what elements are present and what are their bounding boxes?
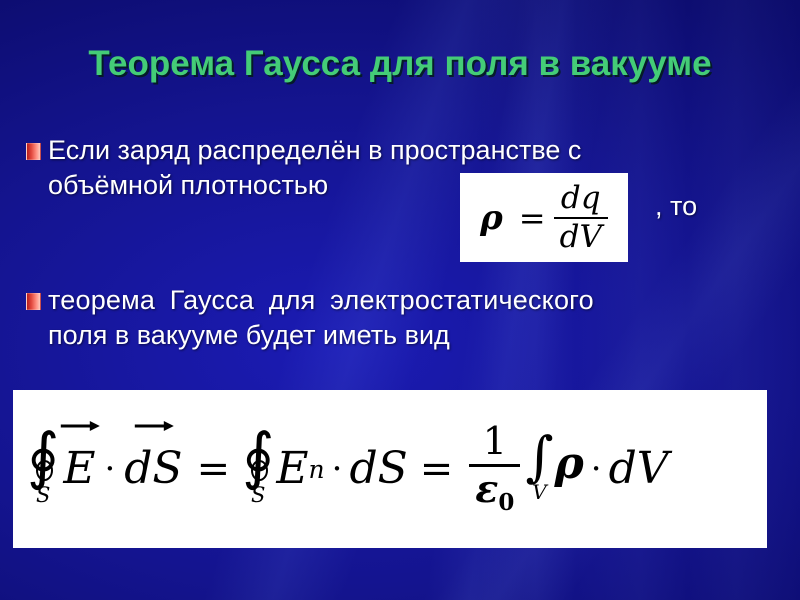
gauss-theorem-formula: ∮ S E · dS =	[13, 390, 767, 548]
one-over-epsilon-zero-fraction: 1 ε0	[469, 422, 520, 515]
field-e-1: E	[63, 443, 95, 494]
fraction-denominator-epsilon: ε0	[469, 469, 520, 515]
integral-symbol: ∫	[525, 434, 553, 480]
bullet-2-line-1: теорема Гаусса для электростатического	[48, 285, 594, 315]
dot-operator-1: ·	[104, 449, 115, 489]
slide-title: Теорема Гаусса для поля в вакууме	[0, 44, 800, 84]
integral-limit-v: V	[532, 480, 546, 504]
equals-sign-1: =	[197, 446, 231, 492]
bullet-square-icon	[26, 293, 41, 310]
bullet-1-line-1-row: Если заряд распределён в пространстве с	[26, 133, 778, 168]
differential-dv: dV	[609, 447, 669, 491]
density-formula-box: ρ = dq dV	[460, 173, 628, 262]
bullet-1-line-1: Если заряд распределён в пространстве с	[48, 135, 581, 165]
bullet-square-icon	[26, 143, 41, 160]
density-formula: ρ = dq dV	[480, 182, 608, 253]
dot-operator-3: ·	[591, 449, 602, 489]
differential-ds-1: dS	[124, 443, 182, 494]
bullet-2-line-2: поля в вакууме будет иметь вид	[48, 318, 778, 353]
fraction-denominator: dV	[554, 221, 608, 254]
field-e-subscript-n: n	[309, 455, 325, 484]
gauss-theorem-formula-box: ∮ S E · dS =	[13, 390, 767, 548]
epsilon-subscript-zero: 0	[498, 489, 514, 516]
fraction-numerator: dq	[555, 182, 607, 215]
rho-symbol: ρ	[480, 198, 503, 238]
equals-sign: =	[519, 199, 546, 237]
vector-arrow-icon	[134, 421, 174, 431]
ds-vector-term: dS	[124, 447, 182, 491]
dq-dv-fraction: dq dV	[554, 182, 608, 253]
then-label: , то	[655, 191, 697, 222]
charge-density-rho: ρ	[555, 438, 584, 489]
dot-operator-2: ·	[332, 449, 343, 489]
bullet-2-line-1-row: теорема Гаусса для электростатического	[26, 283, 778, 318]
closed-surface-integral-1: ∮ S	[27, 431, 59, 508]
epsilon-symbol: ε	[475, 466, 498, 511]
volume-integral: ∫ V	[525, 434, 553, 505]
bullet-item-2: теорема Гаусса для электростатического п…	[26, 283, 778, 352]
differential-ds-2: dS	[349, 447, 407, 491]
field-e-2: E	[276, 447, 308, 491]
fraction-numerator-one: 1	[477, 422, 513, 462]
presentation-slide: Теорема Гаусса для поля в вакууме Если з…	[0, 0, 800, 600]
e-vector-term: E	[63, 447, 95, 491]
closed-surface-integral-2: ∮ S	[242, 431, 274, 508]
equals-sign-2: =	[420, 446, 454, 492]
vector-arrow-icon	[60, 421, 100, 431]
